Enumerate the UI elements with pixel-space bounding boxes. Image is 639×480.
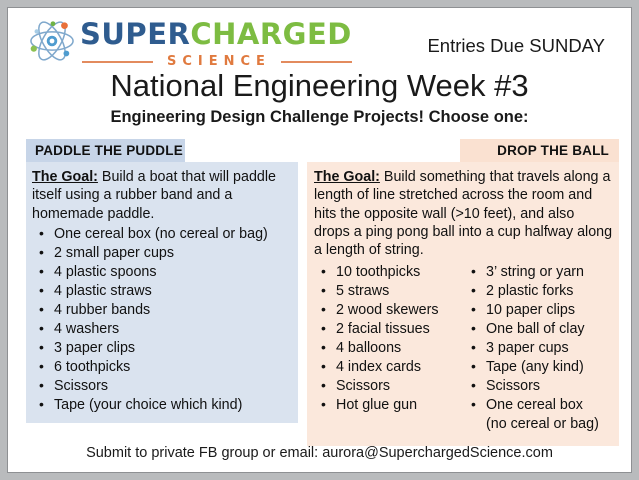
brand-logo: SUPERCHARGED SCIENCE: [28, 18, 346, 66]
page-subtitle: Engineering Design Challenge Projects! C…: [8, 108, 631, 127]
project-card-drop-the-ball: DROP THE BALL The Goal: Build something …: [307, 139, 619, 446]
header-row: SUPERCHARGED SCIENCE Entries Due SUNDAY: [8, 8, 631, 66]
right-panel-header: DROP THE BALL: [460, 139, 619, 162]
list-item: 4 washers: [32, 320, 292, 339]
list-item: Hot glue gun: [314, 396, 464, 415]
logo-word-charged: CHARGED: [190, 17, 352, 51]
list-item: Scissors: [314, 377, 464, 396]
logo-word-science: SCIENCE: [153, 54, 281, 69]
logo-rule-right: [281, 61, 352, 63]
list-item: 3’ string or yarn: [464, 263, 616, 282]
list-item: Tape (your choice which kind): [32, 396, 292, 415]
left-panel-header: PADDLE THE PUDDLE: [26, 139, 185, 162]
list-item: One cereal box: [464, 396, 616, 415]
left-goal-label: The Goal:: [32, 169, 98, 185]
right-materials-list-column-1: 10 toothpicks 5 straws 2 wood skewers 2 …: [314, 263, 464, 434]
list-item: Scissors: [32, 377, 292, 396]
list-item-continuation: (no cereal or bag): [464, 415, 616, 434]
right-materials-list-column-2: 3’ string or yarn 2 plastic forks 10 pap…: [464, 263, 616, 434]
slide-canvas: SUPERCHARGED SCIENCE Entries Due SUNDAY …: [8, 8, 631, 472]
list-item: 4 plastic spoons: [32, 263, 292, 282]
project-card-paddle-the-puddle: PADDLE THE PUDDLE The Goal: Build a boat…: [26, 139, 298, 423]
left-panel-body: The Goal: Build a boat that will paddle …: [26, 162, 298, 423]
right-goal-paragraph: The Goal: Build something that travels a…: [314, 168, 613, 259]
right-materials-columns: 10 toothpicks 5 straws 2 wood skewers 2 …: [314, 261, 613, 434]
list-item: 6 toothpicks: [32, 358, 292, 377]
list-item: 4 plastic straws: [32, 282, 292, 301]
entries-due-text: Entries Due SUNDAY: [427, 35, 605, 57]
right-goal-label: The Goal:: [314, 169, 380, 185]
list-item: Tape (any kind): [464, 358, 616, 377]
logo-science-row: SCIENCE: [80, 54, 352, 69]
right-panel-body: The Goal: Build something that travels a…: [307, 162, 619, 446]
left-materials-list: One cereal box (no cereal or bag) 2 smal…: [32, 225, 292, 415]
left-goal-paragraph: The Goal: Build a boat that will paddle …: [32, 168, 292, 223]
list-item: 10 paper clips: [464, 301, 616, 320]
list-item: 2 wood skewers: [314, 301, 464, 320]
logo-wordmark: SUPERCHARGED: [80, 20, 352, 49]
list-item: One cereal box (no cereal or bag): [32, 225, 292, 244]
page-title: National Engineering Week #3: [8, 68, 631, 104]
logo-word-super: SUPER: [80, 17, 190, 51]
logo-rule-left: [82, 61, 153, 63]
list-item: 4 index cards: [314, 358, 464, 377]
list-item: 3 paper cups: [464, 339, 616, 358]
footer-submit-text: Submit to private FB group or email: aur…: [8, 445, 631, 461]
list-item: 3 paper clips: [32, 339, 292, 358]
atom-icon: [28, 18, 76, 64]
list-item: 4 rubber bands: [32, 301, 292, 320]
list-item: Scissors: [464, 377, 616, 396]
list-item: 2 small paper cups: [32, 244, 292, 263]
list-item: 2 facial tissues: [314, 320, 464, 339]
list-item: 4 balloons: [314, 339, 464, 358]
right-panel-header-wrap: DROP THE BALL: [307, 139, 619, 162]
logo-wordmark-block: SUPERCHARGED SCIENCE: [80, 20, 352, 69]
list-item: One ball of clay: [464, 320, 616, 339]
list-item: 10 toothpicks: [314, 263, 464, 282]
list-item: 5 straws: [314, 282, 464, 301]
list-item: 2 plastic forks: [464, 282, 616, 301]
